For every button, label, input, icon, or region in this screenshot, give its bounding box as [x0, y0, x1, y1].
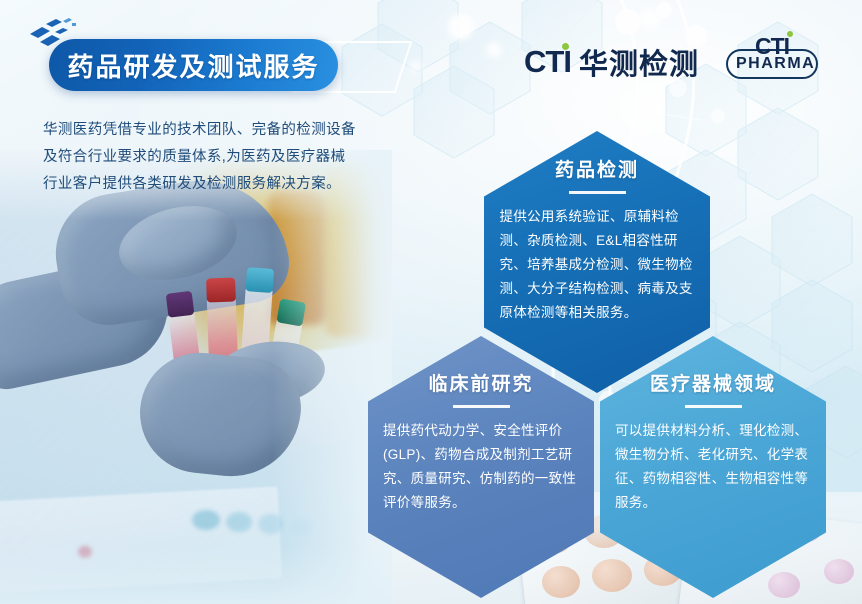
- card-body: 提供药代动力学、安全性评价(GLP)、药物合成及制剂工艺研究、质量研究、仿制药的…: [383, 419, 579, 515]
- photo-bottom-fade: [0, 544, 392, 604]
- card-body: 可以提供材料分析、理化检测、微生物分析、老化研究、化学表征、药物相容性、生物相容…: [615, 419, 811, 515]
- page-title: 药品研发及测试服务: [67, 47, 319, 84]
- cti-pharma-word: PHARMA: [736, 55, 815, 73]
- intro-paragraph: 华测医药凭借专业的技术团队、完备的检测设备及符合行业要求的质量体系,为医药及医疗…: [43, 117, 359, 198]
- bokeh-dot: [640, 8, 660, 28]
- bokeh-dot: [448, 14, 474, 40]
- cti-primary-logo: CTI 华测检测: [524, 41, 699, 83]
- card-divider: [453, 405, 510, 408]
- cti-letters: CTI: [524, 44, 571, 80]
- card-divider: [569, 191, 626, 194]
- lab-photo: [0, 150, 392, 604]
- card-body: 提供公用系统验证、原辅料检测、杂质检测、E&L相容性研究、培养基成分检测、微生物…: [500, 205, 695, 325]
- bokeh-dot: [486, 42, 502, 58]
- cti-chinese-name: 华测检测: [579, 41, 699, 83]
- page-title-banner: 药品研发及测试服务: [49, 39, 338, 91]
- cti-pharma-logo: CTI PHARMA: [726, 31, 818, 87]
- bokeh-dot: [410, 60, 422, 72]
- card-title: 医疗器械领域: [650, 369, 776, 396]
- card-title: 药品检测: [555, 155, 639, 182]
- card-divider: [685, 405, 742, 408]
- card-drug-testing[interactable]: 药品检测 提供公用系统验证、原辅料检测、杂质检测、E&L相容性研究、培养基成分检…: [484, 131, 710, 393]
- card-title: 临床前研究: [428, 369, 533, 396]
- cti-pharma-green-dot-icon: [787, 31, 793, 37]
- poster-canvas: 药品检测 提供公用系统验证、原辅料检测、杂质检测、E&L相容性研究、培养基成分检…: [0, 0, 862, 604]
- cti-green-dot-icon: [562, 43, 569, 50]
- intro-paragraph-block: 华测医药凭借专业的技术团队、完备的检测设备及符合行业要求的质量体系,为医药及医疗…: [43, 117, 359, 198]
